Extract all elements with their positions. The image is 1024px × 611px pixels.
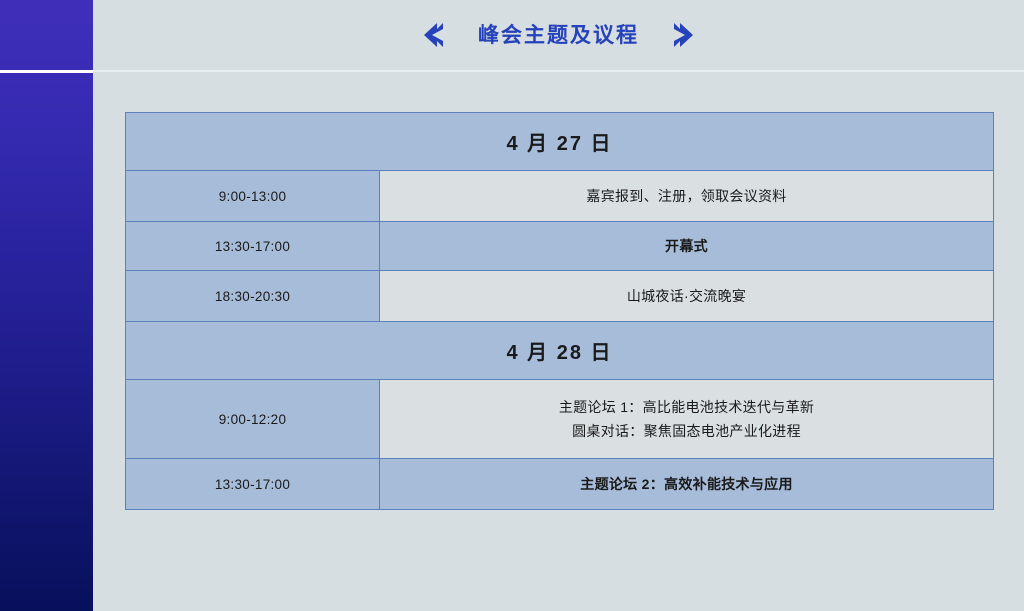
agenda-time: 13:30-17:00 <box>126 222 380 271</box>
agenda-time: 13:30-17:00 <box>126 459 380 510</box>
agenda-item-line: 嘉宾报到、注册，领取会议资料 <box>380 184 993 209</box>
day-date-label: 4 月 27 日 <box>126 113 994 171</box>
agenda-item-line: 开幕式 <box>380 234 993 259</box>
slide-canvas: 峰会主题及议程 4 月 27 日 9:00-13:00 嘉宾报到、注册，领取会议… <box>0 0 1024 611</box>
table-row: 9:00-13:00 嘉宾报到、注册，领取会议资料 <box>126 171 994 222</box>
agenda-item: 主题论坛 2：高效补能技术与应用 <box>380 459 994 510</box>
table-row: 18:30-20:30 山城夜话·交流晚宴 <box>126 271 994 322</box>
day-date-label: 4 月 28 日 <box>126 322 994 380</box>
agenda-time: 9:00-13:00 <box>126 171 380 222</box>
table-row: 9:00-12:20 主题论坛 1：高比能电池技术迭代与革新 圆桌对话：聚焦固态… <box>126 380 994 459</box>
agenda-item: 嘉宾报到、注册，领取会议资料 <box>380 171 994 222</box>
agenda-time: 18:30-20:30 <box>126 271 380 322</box>
agenda-item-line: 主题论坛 2：高效补能技术与应用 <box>380 472 993 497</box>
agenda-item: 主题论坛 1：高比能电池技术迭代与革新 圆桌对话：聚焦固态电池产业化进程 <box>380 380 994 459</box>
agenda-table-body: 4 月 27 日 9:00-13:00 嘉宾报到、注册，领取会议资料 13:30… <box>126 113 994 510</box>
agenda-item: 山城夜话·交流晚宴 <box>380 271 994 322</box>
day-header-row: 4 月 28 日 <box>126 322 994 380</box>
table-row: 13:30-17:00 开幕式 <box>126 222 994 271</box>
page-title: 峰会主题及议程 <box>478 25 639 46</box>
agenda-item-line: 山城夜话·交流晚宴 <box>380 284 993 309</box>
agenda-item-line: 主题论坛 1：高比能电池技术迭代与革新 <box>380 395 993 420</box>
agenda-time: 9:00-12:20 <box>126 380 380 459</box>
agenda-item-line: 圆桌对话：聚焦固态电池产业化进程 <box>380 419 993 444</box>
header-divider-line <box>93 70 1024 72</box>
day-header-row: 4 月 27 日 <box>126 113 994 171</box>
table-row: 13:30-17:00 主题论坛 2：高效补能技术与应用 <box>126 459 994 510</box>
agenda-item: 开幕式 <box>380 222 994 271</box>
left-accent-bar <box>0 0 93 611</box>
double-chevron-left-icon <box>422 22 456 48</box>
agenda-table: 4 月 27 日 9:00-13:00 嘉宾报到、注册，领取会议资料 13:30… <box>125 112 994 510</box>
slide-title-group: 峰会主题及议程 <box>93 0 1024 70</box>
double-chevron-right-icon <box>661 22 695 48</box>
left-accent-bar-divider <box>0 70 93 73</box>
